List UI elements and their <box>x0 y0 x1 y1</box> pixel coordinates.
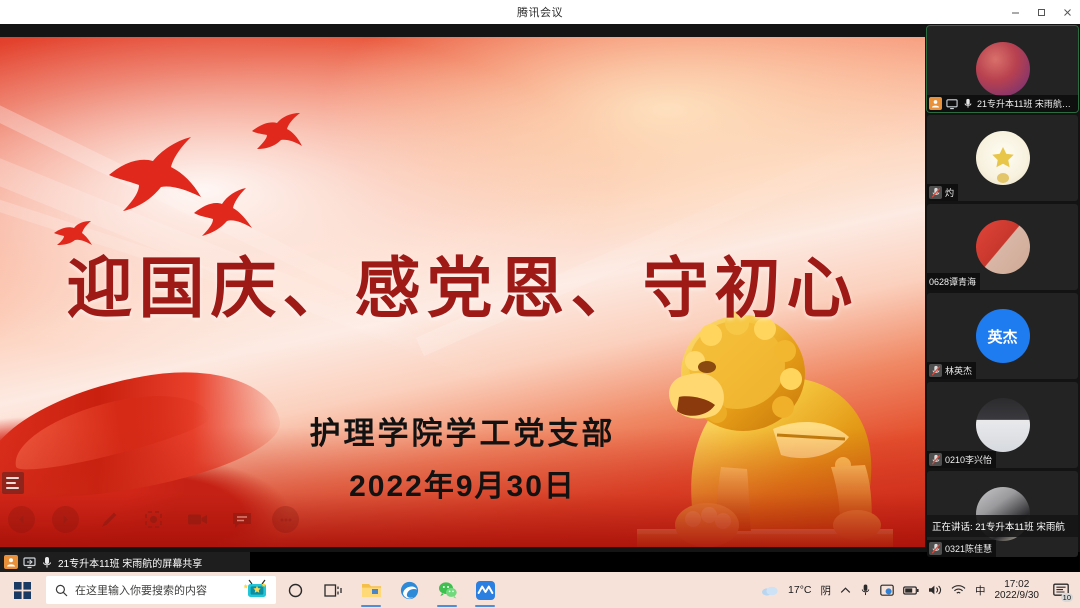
microphone-tray-icon[interactable] <box>860 583 871 597</box>
dove-icon <box>105 135 205 213</box>
microphone-muted-icon <box>929 364 942 377</box>
participant-rail[interactable]: 21专升本11班 宋雨航的屏幕... 灼 0628谭青海 英杰 <box>925 24 1080 552</box>
participant-tile[interactable]: 正在讲话: 21专升本11班 宋雨航 0321陈佳慧 <box>927 471 1078 557</box>
microphone-icon <box>40 555 54 569</box>
running-indicator <box>475 605 495 607</box>
participant-tile[interactable]: 21专升本11班 宋雨航的屏幕... <box>927 26 1078 112</box>
shared-screen-stage: 迎国庆、感党恩、守初心 护理学院学工党支部 2022年9月30日 <box>0 24 925 552</box>
participant-name-bar: 21专升本11班 宋雨航的屏幕... <box>927 95 1078 112</box>
participant-name-bar: 0321陈佳慧 <box>927 540 996 557</box>
wechat-icon[interactable] <box>428 572 466 608</box>
weather-temp: 17°C <box>788 584 811 596</box>
battery-icon[interactable] <box>903 585 919 596</box>
microphone-muted-icon <box>929 186 942 199</box>
start-button[interactable] <box>0 572 44 608</box>
search-placeholder: 在这里输入你要搜索的内容 <box>75 582 207 598</box>
screen-share-toolbar[interactable]: 21专升本11班 宋雨航的屏幕共享 <box>0 552 250 572</box>
avatar <box>976 398 1030 452</box>
avatar-initials: 英杰 <box>987 326 1017 347</box>
participant-name-bar: 0628谭青海 <box>927 273 980 290</box>
avatar: 英杰 <box>976 309 1030 363</box>
ime-indicator[interactable]: 中 <box>975 583 986 598</box>
tv-doodle-icon[interactable] <box>244 579 270 601</box>
participant-name-bar: 灼 <box>927 184 958 201</box>
host-icon <box>4 555 18 569</box>
share-bar-label: 21专升本11班 宋雨航的屏幕共享 <box>58 555 202 570</box>
notification-count: 10 <box>1061 593 1073 602</box>
slide-menu-icon[interactable] <box>2 472 24 494</box>
pen-tool-icon[interactable] <box>96 506 123 533</box>
window-title-bar[interactable]: 腾讯会议 <box>0 0 1080 24</box>
slide-title: 迎国庆、感党恩、守初心 <box>0 235 925 331</box>
slide-date: 2022年9月30日 <box>0 461 925 505</box>
more-options-icon[interactable] <box>272 506 299 533</box>
clock[interactable]: 17:02 2022/9/30 <box>995 579 1040 602</box>
microphone-icon <box>961 97 974 110</box>
running-indicator <box>361 605 381 607</box>
close-button[interactable] <box>1054 0 1080 24</box>
volume-icon[interactable] <box>928 584 942 596</box>
screen-share-icon <box>945 97 958 110</box>
task-view-icon[interactable] <box>314 572 352 608</box>
dove-icon <box>251 112 303 150</box>
avatar <box>976 131 1030 185</box>
notification-center-button[interactable]: 10 <box>1048 572 1074 608</box>
participant-name: 林英杰 <box>945 364 972 377</box>
participant-tile[interactable]: 灼 <box>927 115 1078 201</box>
participant-name-bar: 0210李兴怡 <box>927 451 996 468</box>
minimize-button[interactable] <box>1002 0 1028 24</box>
presentation-slide[interactable]: 迎国庆、感党恩、守初心 护理学院学工党支部 2022年9月30日 <box>0 37 925 547</box>
camera-icon[interactable] <box>184 506 211 533</box>
screen-share-icon <box>22 555 36 569</box>
participant-name: 21专升本11班 宋雨航的屏幕... <box>977 97 1074 110</box>
participant-tile[interactable]: 英杰 林英杰 <box>927 293 1078 379</box>
weather-desc: 阴 <box>821 583 832 598</box>
host-icon <box>929 97 942 110</box>
laser-pointer-icon[interactable] <box>140 506 167 533</box>
chevron-up-icon[interactable] <box>840 586 851 595</box>
cortana-icon[interactable] <box>276 572 314 608</box>
avatar <box>976 220 1030 274</box>
subtitles-icon[interactable] <box>228 506 255 533</box>
window-controls <box>1002 0 1080 24</box>
wifi-icon[interactable] <box>951 584 966 596</box>
maximize-button[interactable] <box>1028 0 1054 24</box>
microphone-muted-icon <box>929 453 942 466</box>
previous-slide-button[interactable] <box>8 506 35 533</box>
windows-taskbar[interactable]: 在这里输入你要搜索的内容 <box>0 572 1080 608</box>
screen-capture-tray-icon[interactable] <box>880 584 894 597</box>
clock-time: 17:02 <box>995 579 1040 591</box>
avatar <box>976 42 1030 96</box>
microphone-muted-icon <box>929 542 942 555</box>
file-explorer-icon[interactable] <box>352 572 390 608</box>
tencent-meeting-icon[interactable] <box>466 572 504 608</box>
window-title: 腾讯会议 <box>517 4 563 20</box>
speaking-indicator: 正在讲话: 21专升本11班 宋雨航 <box>927 515 1078 537</box>
presentation-controls <box>8 506 299 533</box>
participant-name: 0210李兴怡 <box>945 453 992 466</box>
search-input[interactable]: 在这里输入你要搜索的内容 <box>46 576 276 604</box>
search-icon <box>55 584 68 597</box>
running-indicator <box>437 605 457 607</box>
participant-tile[interactable]: 0628谭青海 <box>927 204 1078 290</box>
weather-icon[interactable] <box>761 584 779 597</box>
participant-tile[interactable]: 0210李兴怡 <box>927 382 1078 468</box>
next-slide-button[interactable] <box>52 506 79 533</box>
participant-name-bar: 林英杰 <box>927 362 976 379</box>
dove-icon <box>192 187 254 237</box>
participant-name: 0321陈佳慧 <box>945 542 992 555</box>
participant-name: 灼 <box>945 186 954 199</box>
edge-browser-icon[interactable] <box>390 572 428 608</box>
participant-name: 0628谭青海 <box>929 275 976 288</box>
slide-subtitle: 护理学院学工党支部 <box>0 408 925 453</box>
clock-date: 2022/9/30 <box>995 590 1040 602</box>
system-tray: 17°C 阴 中 17:02 <box>761 572 1080 608</box>
